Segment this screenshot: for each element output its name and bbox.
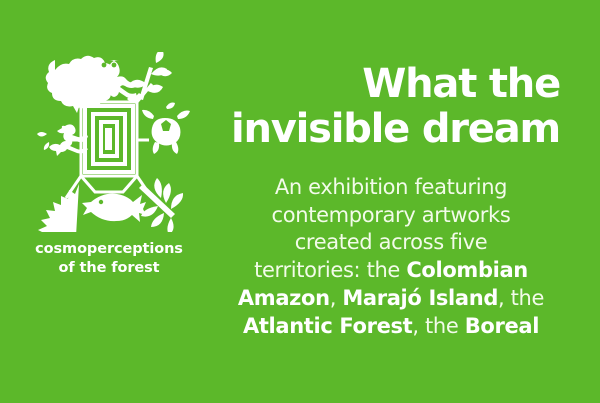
brand-block: cosmoperceptions of the forest — [14, 52, 204, 278]
description-sep-1: , — [330, 286, 343, 310]
territory-atlantic-forest: Atlantic Forest — [243, 314, 412, 338]
territory-colombian: Colombian — [406, 258, 528, 282]
territory-amazon: Amazon — [238, 286, 330, 310]
exhibition-description: An exhibition featuring contemporary art… — [222, 174, 560, 342]
description-line-3: created across five — [222, 229, 560, 257]
brand-caption-line-1: cosmoperceptions — [35, 240, 183, 259]
pine-tree-icon — [38, 184, 79, 232]
description-sep-2: , the — [412, 314, 464, 338]
description-line-6: Atlantic Forest, the Boreal — [222, 313, 560, 341]
page-title: What the invisible dream — [222, 62, 560, 152]
description-line-1: An exhibition featuring — [222, 174, 560, 202]
brand-caption-line-2: of the forest — [35, 259, 183, 278]
turtle-icon — [142, 103, 190, 155]
territory-boreal: Boreal — [465, 314, 539, 338]
territory-marajo-island: Marajó Island — [342, 286, 498, 310]
headline-line-1: What the — [222, 62, 560, 107]
description-line-5: Amazon, Marajó Island, the — [222, 285, 560, 313]
brand-caption: cosmoperceptions of the forest — [35, 240, 183, 278]
description-line-4: territories: the Colombian — [222, 257, 560, 285]
content-block: What the invisible dream An exhibition f… — [222, 62, 560, 341]
poster-canvas: cosmoperceptions of the forest What the … — [0, 0, 600, 403]
description-line-4-text: territories: the — [254, 258, 406, 282]
description-line-5-tail: , the — [498, 286, 544, 310]
labyrinth-spiral — [83, 104, 135, 174]
fish-icon — [82, 194, 146, 222]
description-line-2: contemporary artworks — [222, 202, 560, 230]
headline-line-2: invisible dream — [222, 107, 560, 152]
cosmoperceptions-forest-emblem — [25, 52, 193, 232]
